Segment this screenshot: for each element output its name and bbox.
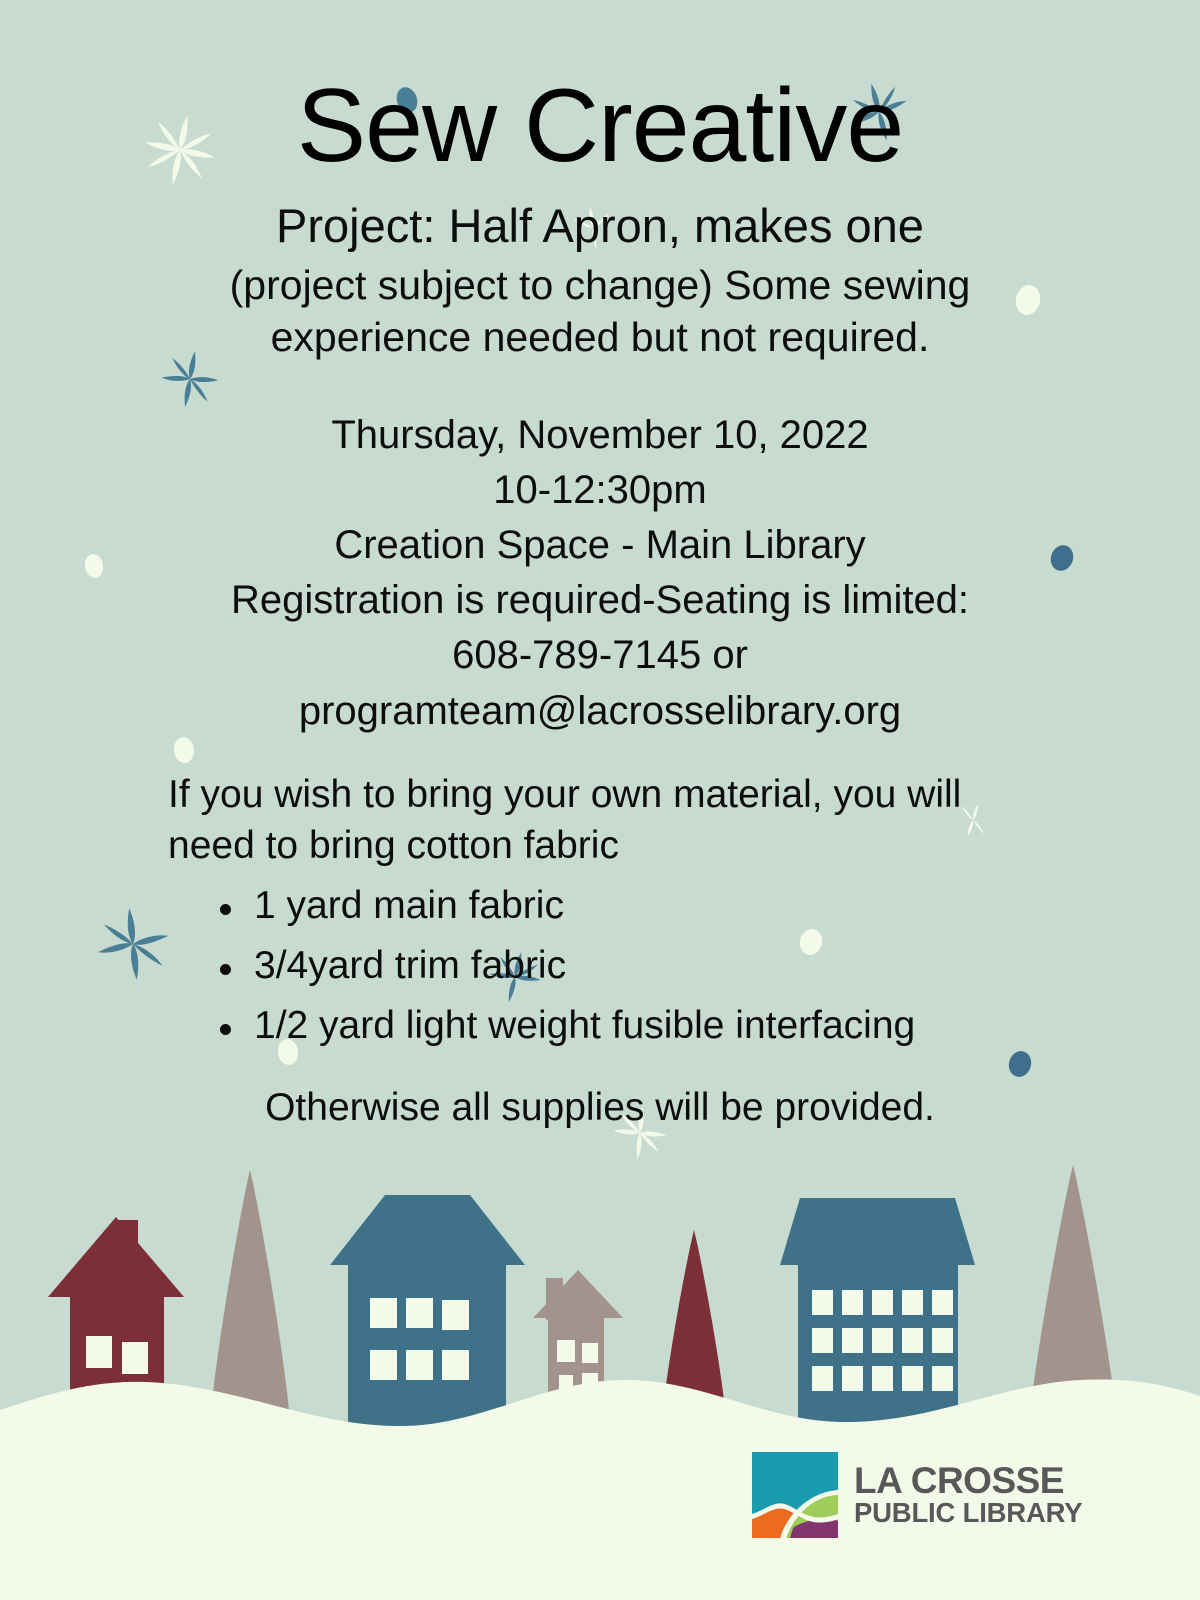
materials-section: If you wish to bring your own material, … [150, 769, 1050, 1053]
project-note: (project subject to change) Some sewing … [205, 259, 995, 364]
event-date: Thursday, November 10, 2022 [0, 408, 1200, 463]
event-time: 10-12:30pm [0, 463, 1200, 518]
event-details: Thursday, November 10, 2022 10-12:30pm C… [0, 408, 1200, 739]
closing-note: Otherwise all supplies will be provided. [0, 1086, 1200, 1130]
list-item: 1/2 yard light weight fusible interfacin… [216, 1000, 1050, 1052]
poster-content: Sew Creative Project: Half Apron, makes … [0, 0, 1200, 1130]
list-item: 1 yard main fabric [216, 880, 1050, 932]
library-logo: LA CROSSE PUBLIC LIBRARY [752, 1452, 1082, 1538]
materials-list: 1 yard main fabric 3/4yard trim fabric 1… [168, 880, 1050, 1053]
logo-wordmark: LA CROSSE PUBLIC LIBRARY [854, 1464, 1082, 1527]
registration-email[interactable]: programteam@lacrosselibrary.org [0, 684, 1200, 739]
la-crosse-logo-mark-icon [752, 1452, 838, 1538]
poster-canvas: Sew Creative Project: Half Apron, makes … [0, 0, 1200, 1600]
list-item: 3/4yard trim fabric [216, 940, 1050, 992]
logo-line-public-library: PUBLIC LIBRARY [854, 1500, 1082, 1526]
materials-intro: If you wish to bring your own material, … [168, 769, 1050, 872]
page-title: Sew Creative [0, 0, 1200, 178]
registration-phone[interactable]: 608-789-7145 or [0, 628, 1200, 683]
registration-note: Registration is required-Seating is limi… [0, 573, 1200, 628]
project-line: Project: Half Apron, makes one [0, 200, 1200, 253]
event-location: Creation Space - Main Library [0, 518, 1200, 573]
logo-line-la-crosse: LA CROSSE [854, 1464, 1082, 1499]
